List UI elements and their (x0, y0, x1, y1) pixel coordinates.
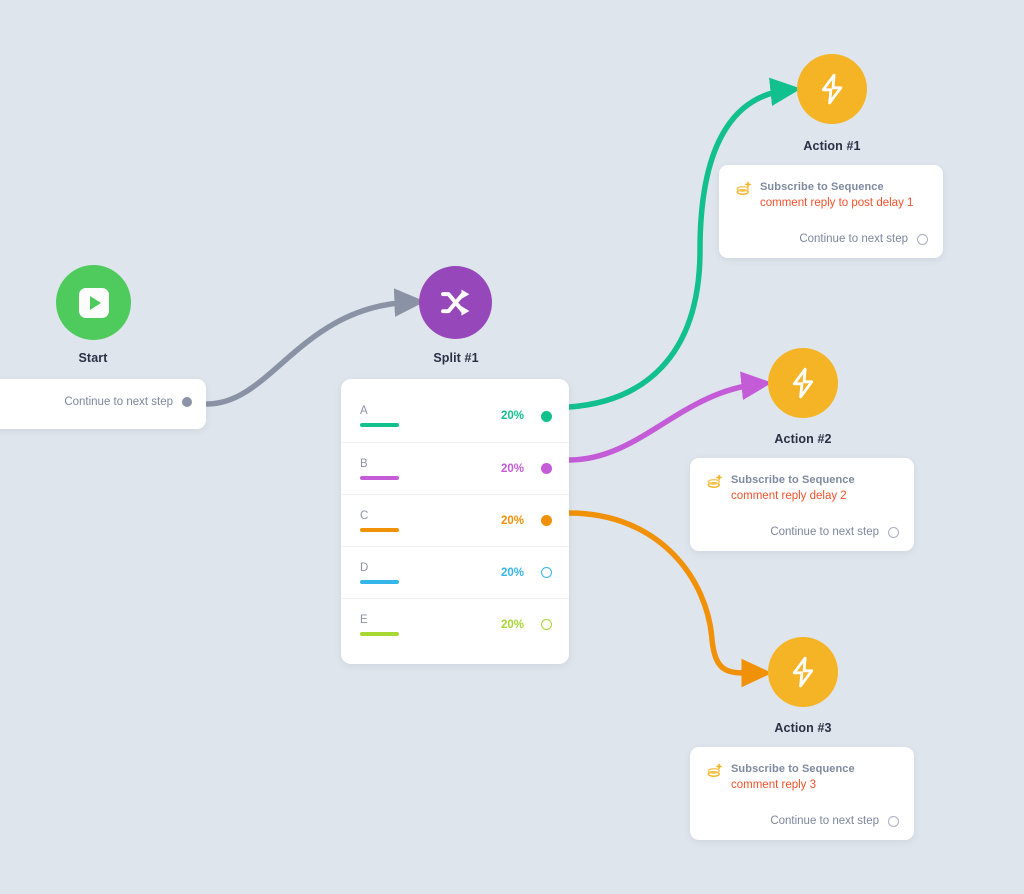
split-row-bar (360, 423, 399, 427)
split-row-letter: A (360, 405, 501, 418)
action-card-2-continue-row[interactable]: Continue to next step (770, 526, 899, 538)
split-row-letter: E (360, 614, 501, 627)
split-row-percent: 20% (501, 410, 524, 422)
action-card-3-continue-label: Continue to next step (770, 815, 879, 827)
action-card-2[interactable]: Subscribe to Sequence comment reply dela… (690, 458, 914, 551)
action-card-2-continue-label: Continue to next step (770, 526, 879, 538)
action-card-3-subtitle: comment reply 3 (731, 777, 855, 793)
action-card-1-title: Subscribe to Sequence (760, 180, 913, 195)
split-row-connector-dot[interactable] (541, 411, 552, 422)
action-card-1[interactable]: Subscribe to Sequence comment reply to p… (719, 165, 943, 258)
split-row-letter: C (360, 510, 501, 523)
split-row[interactable]: D 20% (341, 546, 569, 598)
split-row-percent: 20% (501, 619, 524, 631)
action-node-3-label: Action #3 (738, 721, 868, 735)
split-row[interactable]: A 20% (341, 390, 569, 442)
action-node-2[interactable] (768, 348, 838, 418)
action-card-3[interactable]: Subscribe to Sequence comment reply 3 Co… (690, 747, 914, 840)
split-row[interactable]: C 20% (341, 494, 569, 546)
start-connector-dot[interactable] (182, 397, 192, 407)
subscribe-sequence-icon (707, 474, 723, 490)
action-card-2-subtitle: comment reply delay 2 (731, 488, 855, 504)
split-row-letter: D (360, 562, 501, 575)
split-row-connector-dot[interactable] (541, 567, 552, 578)
lightning-icon (788, 367, 818, 399)
play-icon (79, 288, 109, 318)
split-row[interactable]: B 20% (341, 442, 569, 494)
split-row-bar (360, 580, 399, 584)
lightning-icon (788, 656, 818, 688)
lightning-icon (817, 73, 847, 105)
action-card-3-connector-dot[interactable] (888, 816, 899, 827)
split-row-connector-dot[interactable] (541, 463, 552, 474)
action-card-2-connector-dot[interactable] (888, 527, 899, 538)
split-row-percent: 20% (501, 515, 524, 527)
action-card-3-title: Subscribe to Sequence (731, 762, 855, 777)
action-node-1-label: Action #1 (767, 139, 897, 153)
action-card-1-subtitle: comment reply to post delay 1 (760, 195, 913, 211)
start-continue-label: Continue to next step (64, 396, 173, 408)
action-node-1[interactable] (797, 54, 867, 124)
split-row-percent: 20% (501, 567, 524, 579)
start-continue-row[interactable]: Continue to next step (64, 396, 192, 408)
start-node[interactable] (56, 265, 131, 340)
start-card[interactable]: Continue to next step (0, 379, 206, 429)
shuffle-icon (439, 288, 473, 318)
action-node-3[interactable] (768, 637, 838, 707)
split-row-percent: 20% (501, 463, 524, 475)
subscribe-sequence-icon (736, 181, 752, 197)
split-row-letter: B (360, 458, 501, 471)
action-card-1-connector-dot[interactable] (917, 234, 928, 245)
action-node-2-label: Action #2 (738, 432, 868, 446)
split-row[interactable]: E 20% (341, 598, 569, 650)
split-panel[interactable]: A 20% B 20% C 20% D (341, 379, 569, 664)
split-node-label: Split #1 (391, 351, 521, 365)
split-row-connector-dot[interactable] (541, 515, 552, 526)
edge-split-b-to-action2 (569, 384, 759, 460)
split-row-bar (360, 476, 399, 480)
action-card-1-continue-row[interactable]: Continue to next step (799, 233, 928, 245)
split-row-connector-dot[interactable] (541, 619, 552, 630)
start-node-label: Start (28, 351, 158, 365)
split-row-bar (360, 632, 399, 636)
action-card-1-continue-label: Continue to next step (799, 233, 908, 245)
flow-canvas[interactable]: Start Continue to next step Split #1 A 2… (0, 0, 1024, 894)
split-node[interactable] (419, 266, 492, 339)
action-card-3-continue-row[interactable]: Continue to next step (770, 815, 899, 827)
action-card-2-title: Subscribe to Sequence (731, 473, 855, 488)
split-row-bar (360, 528, 399, 532)
subscribe-sequence-icon (707, 763, 723, 779)
